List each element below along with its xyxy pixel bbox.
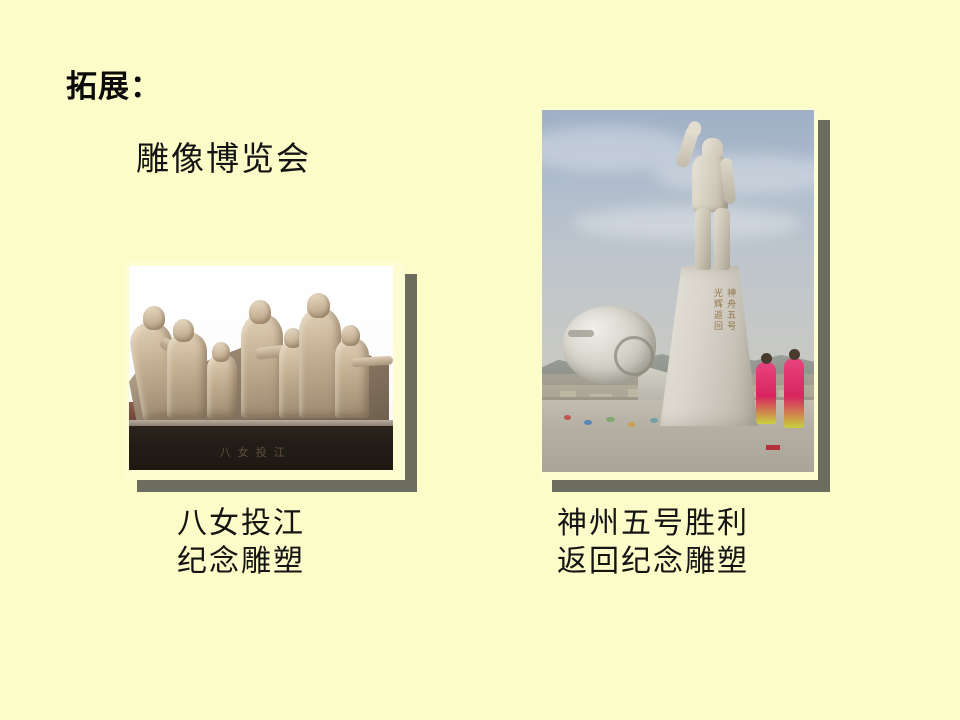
pedestal-inscription: 神舟五号 光辉返回 (710, 288, 736, 332)
ground-marker (766, 445, 780, 450)
photo-shenzhou-five: 神舟五号 光辉返回 (540, 108, 818, 480)
statue-head (249, 300, 271, 324)
confetti (564, 415, 571, 420)
confetti (650, 418, 658, 423)
caption-shenzhou-five: 神州五号胜利 返回纪念雕塑 (557, 505, 749, 582)
plinth: 八女投江 (129, 426, 393, 470)
reentry-capsule (562, 306, 656, 384)
statue-head (702, 138, 723, 160)
photo-eight-women: 八女投江 (125, 262, 405, 480)
statue-head (143, 306, 165, 330)
statue-leg-left (695, 208, 711, 270)
statue-head (341, 325, 360, 346)
caption-eight-women: 八女投江 纪念雕塑 (177, 505, 305, 582)
page-subtitle: 雕像博览会 (136, 141, 311, 177)
visitor-figure (756, 362, 776, 424)
confetti (584, 420, 592, 425)
statue-head (212, 342, 230, 362)
confetti (606, 417, 615, 422)
capsule-band (568, 330, 594, 337)
slide-canvas: 拓展： 雕像博览会 (0, 0, 960, 720)
capsule-hatch (614, 336, 654, 376)
page-title: 拓展： (66, 70, 162, 104)
statue-figure (241, 314, 283, 418)
statue-hand (687, 120, 702, 136)
statue-figure (335, 338, 369, 418)
photo-image-shenzhou-five: 神舟五号 光辉返回 (542, 110, 814, 472)
statue-figure (167, 332, 207, 418)
photo-image-eight-women: 八女投江 (129, 266, 393, 470)
visitor-head (789, 349, 800, 360)
statue-leg-right (714, 208, 730, 270)
confetti (628, 422, 635, 427)
visitor-figure (784, 358, 804, 428)
astronaut-statue (678, 126, 744, 276)
statue-head (307, 293, 330, 318)
statue-head (173, 319, 194, 342)
plinth-engraved-text: 八女投江 (220, 444, 292, 460)
visitor-head (761, 353, 772, 364)
statue-figure (207, 354, 237, 418)
